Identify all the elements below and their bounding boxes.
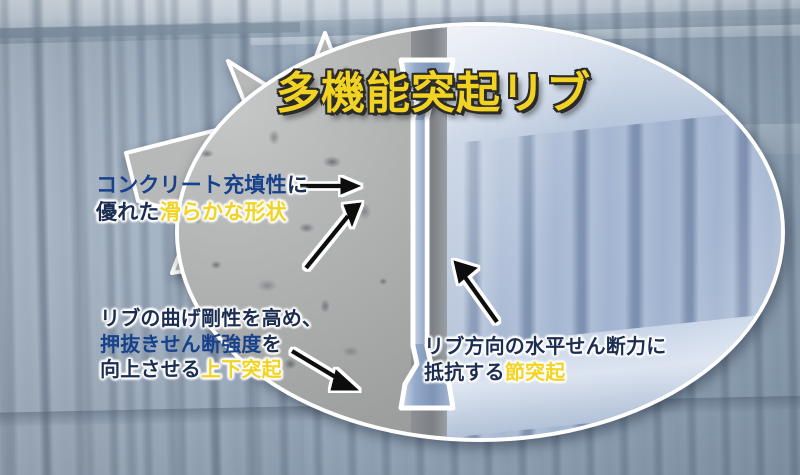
annotation-smooth-shape: コンクリート充填性に 優れた滑らかな形状 xyxy=(96,172,308,226)
annotation-span: 向上させる xyxy=(100,357,201,381)
annotation-node-bulge: リブ方向の水平せん断力に 抵抗する節突起 xyxy=(424,334,666,385)
annotation-line: コンクリート充填性に xyxy=(96,172,308,199)
annotation-span: コンクリート充填性 xyxy=(96,173,287,197)
annotation-span-highlight: 上下突起 xyxy=(201,357,282,381)
annotation-span: リブの曲げ剛性を高め、 xyxy=(100,306,322,330)
annotation-line: 押抜きせん断強度を xyxy=(100,332,322,358)
annotation-line: 抵抗する節突起 xyxy=(424,360,666,386)
illustration-canvas: 多機能突起リブ コンクリート充填性に 優れた滑らかな形状 リブの曲げ剛性を高め、… xyxy=(0,0,800,475)
annotation-span-highlight: 節突起 xyxy=(505,360,566,384)
annotation-span: を xyxy=(262,332,282,356)
annotation-span: 優れた xyxy=(96,200,160,224)
annotation-span: に xyxy=(287,173,308,197)
annotation-span: リブ方向の水平せん断力に xyxy=(424,334,666,358)
annotation-line: リブ方向の水平せん断力に xyxy=(424,334,666,360)
annotation-span-highlight: 滑らかな形状 xyxy=(160,200,287,224)
annotation-line: 向上させる上下突起 xyxy=(100,357,322,383)
annotation-line: リブの曲げ剛性を高め、 xyxy=(100,306,322,332)
annotation-line: 優れた滑らかな形状 xyxy=(96,199,308,226)
page-title: 多機能突起リブ xyxy=(276,66,591,122)
annotation-span: 抵抗する xyxy=(424,360,505,384)
annotation-top-bottom-bulge: リブの曲げ剛性を高め、 押抜きせん断強度を 向上させる上下突起 xyxy=(100,306,322,383)
annotation-span: 押抜きせん断強度 xyxy=(100,332,262,356)
